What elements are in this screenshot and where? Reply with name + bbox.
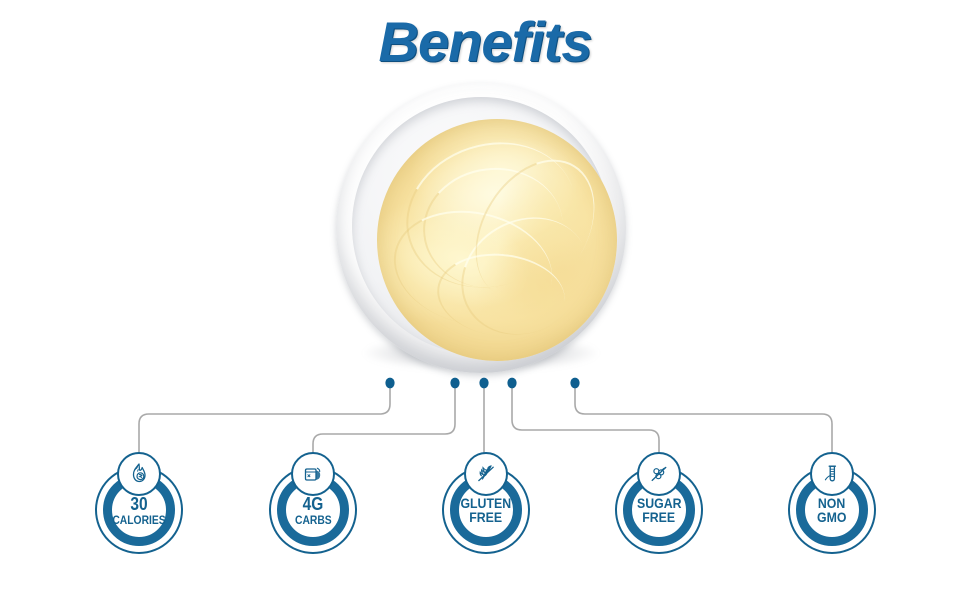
connector-path-2 — [313, 386, 455, 462]
connector-dot — [507, 378, 516, 389]
benefit-badge-gluten-free[interactable]: GLUTEN FREE — [434, 458, 538, 562]
badge-line-2: GMO — [817, 510, 846, 524]
bread-icon — [291, 452, 335, 496]
benefit-badge-calories[interactable]: 30 CALORIES — [87, 458, 191, 562]
connector-path-1 — [139, 386, 390, 462]
benefit-badge-sugar-free[interactable]: SUGAR FREE — [607, 458, 711, 562]
benefit-badge-non-gmo[interactable]: NON GMO — [780, 458, 884, 562]
badge-line-2: CALORIES — [112, 514, 165, 526]
badge-line-1: NON — [818, 496, 845, 510]
badge-line-2: FREE — [470, 510, 503, 524]
badge-line-1: 30 — [130, 495, 147, 513]
connector-dot — [385, 378, 394, 389]
benefits-infographic: Benefits — [0, 0, 970, 600]
wheat-no-icon — [464, 452, 508, 496]
connector-dot — [450, 378, 459, 389]
benefit-badge-carbs[interactable]: 4G CARBS — [261, 458, 365, 562]
sugar-cubes-no-icon — [637, 452, 681, 496]
connector-dot — [479, 378, 488, 389]
test-tube-no-icon — [810, 452, 854, 496]
connector-dot — [570, 378, 579, 389]
flame-icon — [117, 452, 161, 496]
badge-line-2: CARBS — [295, 514, 332, 526]
badge-line-1: 4G — [303, 495, 324, 513]
connector-path-4 — [512, 386, 659, 462]
badge-line-2: FREE — [643, 510, 676, 524]
badge-line-1: GLUTEN — [461, 496, 512, 510]
connector-path-5 — [575, 386, 832, 462]
badge-line-1: SUGAR — [637, 496, 681, 510]
connector-dot-group — [385, 378, 579, 389]
